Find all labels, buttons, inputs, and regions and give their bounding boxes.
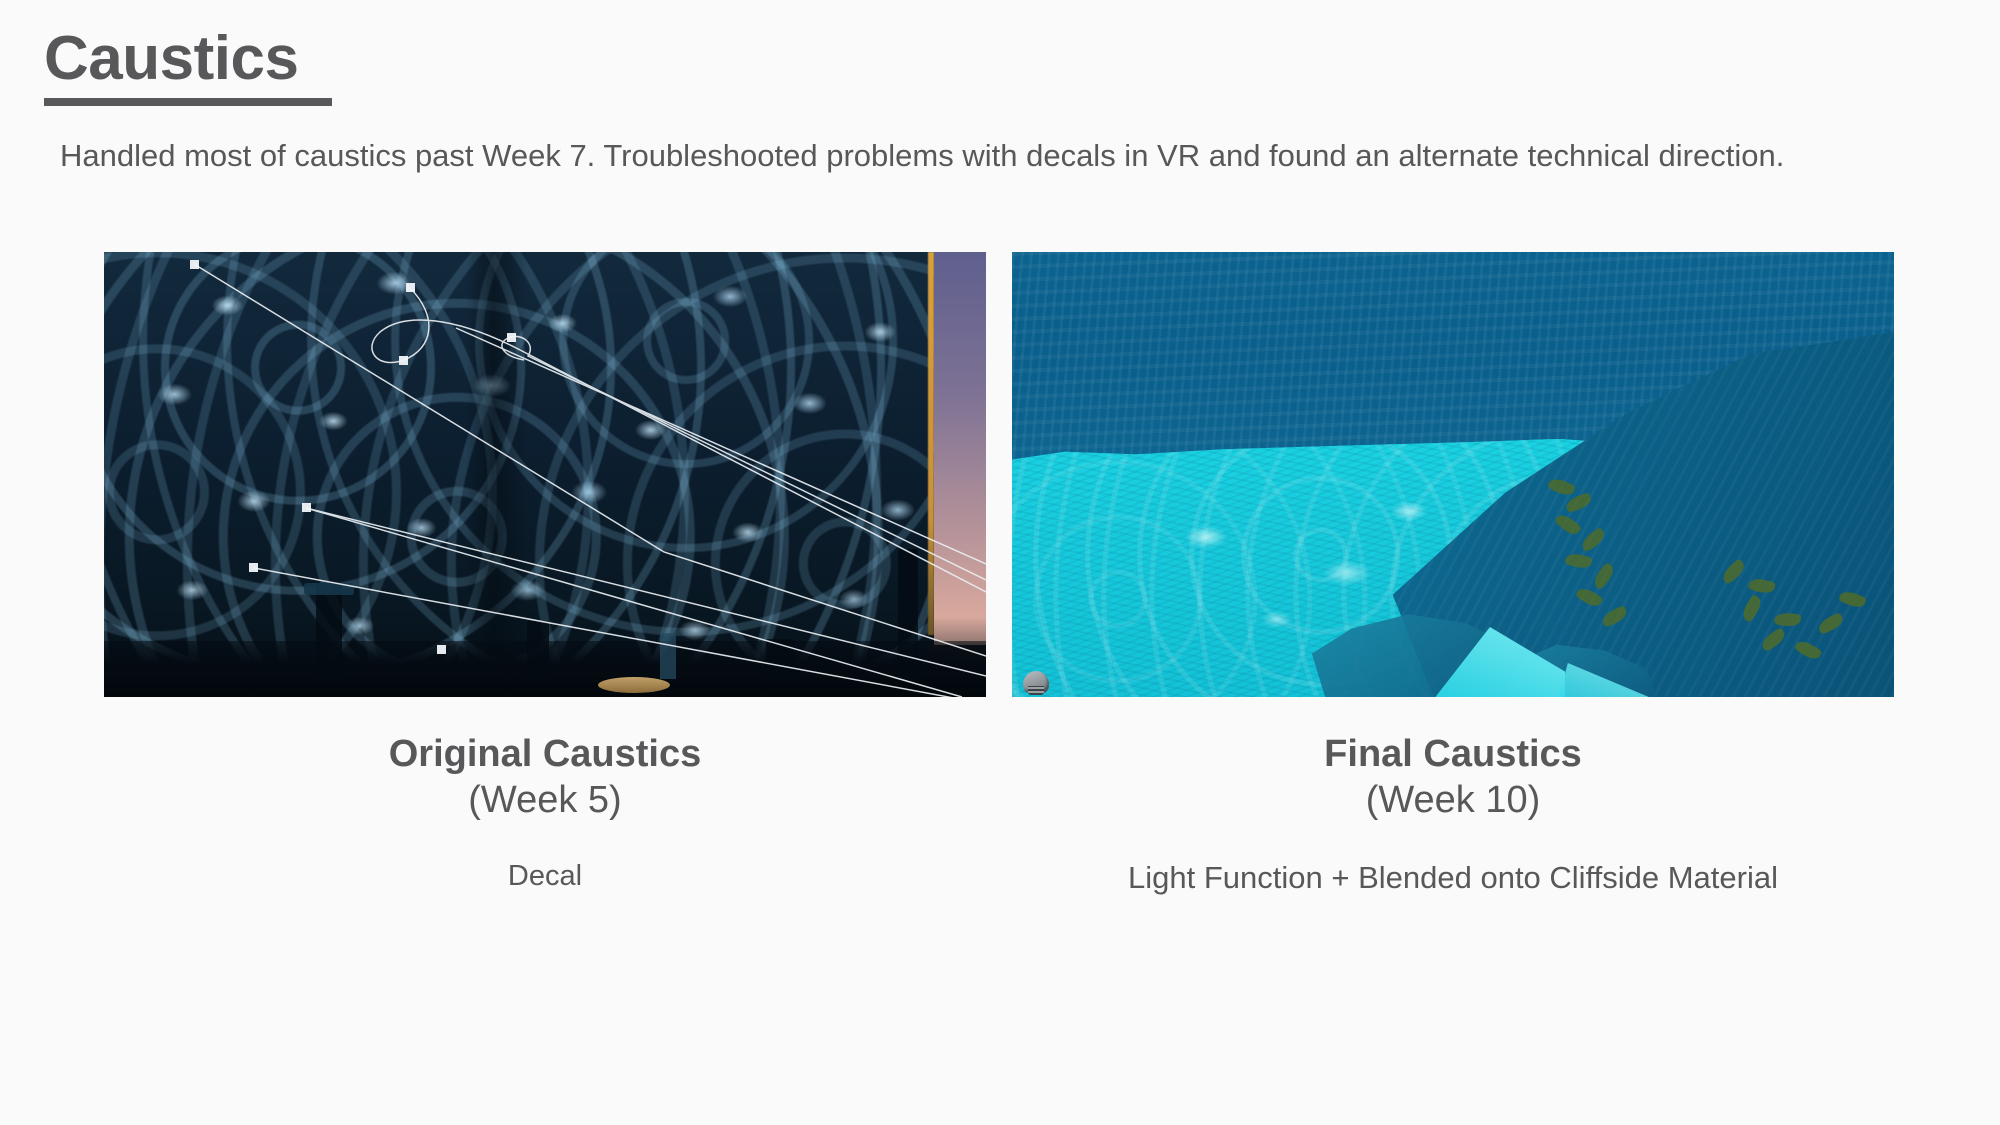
caption-week: (Week 10) — [1012, 777, 1894, 823]
caustics-light-function-image — [1012, 252, 1894, 697]
screenshot-original-caustics — [104, 252, 986, 697]
subtitle-text: Handled most of caustics past Week 7. Tr… — [60, 138, 1900, 175]
caption-original-caustics: Original Caustics (Week 5) Decal — [104, 731, 986, 895]
title-underline-rule — [44, 98, 332, 106]
caption-week: (Week 5) — [104, 777, 986, 823]
caption-technique: Light Function + Blended onto Cliffside … — [1012, 858, 1894, 898]
caption-final-caustics: Final Caustics (Week 10) Light Function … — [1012, 731, 1894, 898]
slide: Caustics Handled most of caustics past W… — [0, 0, 2000, 1125]
panel-original-caustics: Original Caustics (Week 5) Decal — [104, 252, 986, 895]
title-block: Caustics — [44, 28, 332, 106]
caption-technique: Decal — [104, 858, 986, 896]
wire-lines-overlay — [104, 252, 986, 697]
caption-name: Final Caustics — [1012, 731, 1894, 777]
caption-name: Original Caustics — [104, 731, 986, 777]
kelp-strand — [1536, 458, 1747, 642]
page-title: Caustics — [44, 28, 332, 90]
screenshot-final-caustics — [1012, 252, 1894, 697]
panel-final-caustics: Final Caustics (Week 10) Light Function … — [1012, 252, 1894, 898]
